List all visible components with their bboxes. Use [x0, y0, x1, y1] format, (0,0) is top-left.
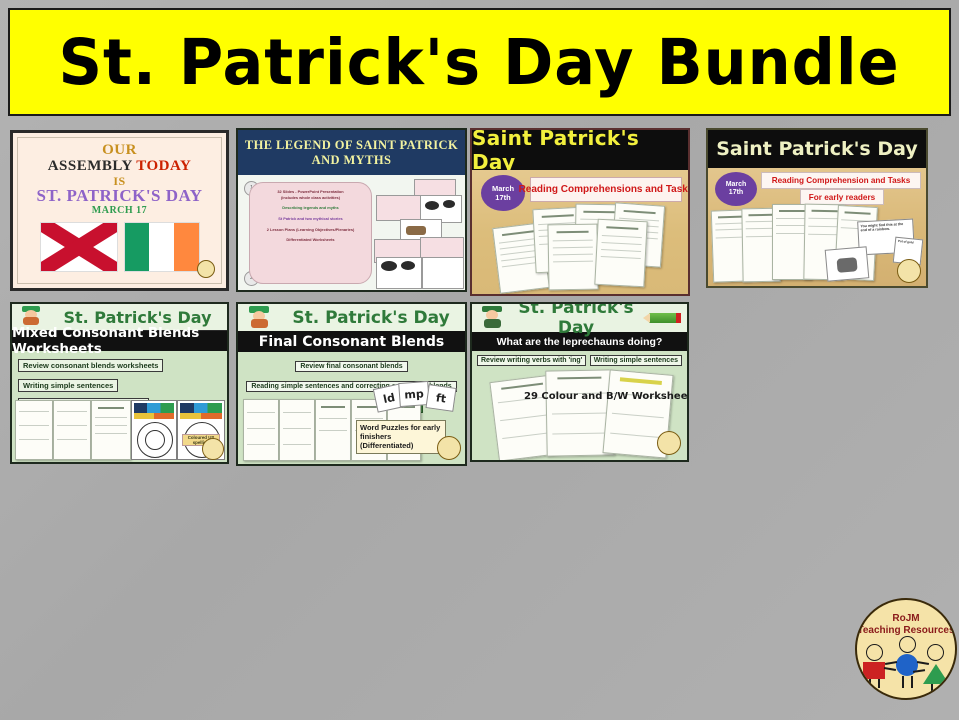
assembly-line-march: MARCH 17 [92, 206, 147, 217]
legend-bullet-box: 32 Slides - PowerPoint Presentation (inc… [249, 182, 372, 284]
worksheet-thumb [279, 399, 315, 461]
legend-thumb-7 [376, 257, 422, 289]
stick-figure-red [862, 644, 892, 688]
leprechauns-band: What are the leprechauns doing? [472, 332, 687, 351]
card-assembly-inner: OUR ASSEMBLY TODAY IS ST. PATRICK'S DAY … [17, 137, 222, 284]
card-watermark-logo [202, 438, 224, 460]
final-blends-title-bar: St. Patrick's Day [238, 304, 465, 331]
worksheet-thumb [243, 399, 279, 461]
legend-header-line1: THE LEGEND OF SAINT PATRICK [245, 138, 458, 152]
march-badge-month: March [726, 181, 747, 189]
march-badge-day: 17th [495, 193, 510, 202]
irish-tricolour-flag-icon [124, 222, 200, 272]
leprechaun-icon [241, 305, 277, 330]
card-mixed-consonant-blends[interactable]: St. Patrick's Day Mixed Consonant Blends… [10, 302, 229, 464]
leprechauns-tag-2: Writing simple sentences [590, 355, 682, 366]
leprechauns-title: St. Patrick's Day [509, 302, 643, 338]
comprehensions-title-bar: Saint Patrick's Day [472, 130, 688, 170]
mixed-blends-band-text: Mixed Consonant Blends Worksheets [12, 325, 227, 357]
assembly-line-our: OUR [102, 143, 137, 159]
leprechauns-tag-row: Review writing verbs with 'ing' Writing … [472, 351, 687, 366]
legend-thumb-8 [422, 257, 464, 289]
mixed-blends-tag-2: Writing simple sentences [18, 379, 118, 392]
puzzle-piece-pot [825, 246, 870, 282]
legend-bullet-4: St Patrick and two mythical stories [254, 216, 367, 222]
logo-line-1: RoJM [857, 613, 955, 624]
final-blends-title: St. Patrick's Day [277, 308, 465, 328]
title-banner: St. Patrick's Day Bundle [8, 8, 951, 116]
final-blends-tag-1: Review final consonant blends [295, 361, 407, 372]
worksheet-thumb [547, 224, 598, 291]
colour-by-code-thumb [131, 400, 177, 460]
legend-header: THE LEGEND OF SAINT PATRICK AND MYTHS [238, 130, 465, 175]
legend-thumb-6 [420, 237, 464, 259]
rojm-logo[interactable]: RoJM Teaching Resources [855, 598, 957, 700]
worksheet-count-row: 29 Colour and B/W Worksheets [524, 390, 654, 402]
word-puzzle-note: Word Puzzles for early finishers (Differ… [356, 420, 446, 454]
leprechauns-worksheet-fan [490, 366, 680, 456]
page-title: St. Patrick's Day Bundle [59, 26, 900, 99]
early-readers-ribbon-2-text: For early readers [809, 193, 875, 202]
card-early-readers[interactable]: Saint Patrick's Day March 17th Reading C… [706, 128, 928, 288]
worksheet-thumb [91, 400, 131, 460]
final-blends-tag-1-row: Review final consonant blends [238, 352, 465, 373]
march-badge-day: 17th [729, 189, 743, 197]
puzzle-piece-small-caption: Pot of gold [896, 238, 923, 248]
card-assembly-watermark-logo [197, 260, 215, 278]
legend-thumbnail-collage [374, 179, 462, 289]
card-leprechauns-doing[interactable]: St. Patrick's Day What are the leprechau… [470, 302, 689, 462]
legend-bullet-6: Differentiated Worksheets [254, 237, 367, 243]
stick-figure-blue [893, 636, 923, 688]
early-readers-board: March 17th Reading Comprehension and Tas… [708, 168, 926, 286]
leprechauns-band-text: What are the leprechauns doing? [497, 336, 663, 348]
legend-bullet-2: (includes whole class activities) [254, 195, 367, 201]
assembly-line-stpatricksday: ST. PATRICK'S DAY [36, 187, 202, 205]
card-watermark-logo [657, 431, 681, 455]
mixed-blends-tag-1: Review consonant blends worksheets [18, 359, 163, 372]
comprehensions-ribbon: Reading Comprehensions and Tasks [530, 177, 682, 202]
saltire-flag-icon [40, 222, 118, 272]
worksheet-thumb [594, 219, 647, 288]
blend-card-ft: ft [425, 384, 456, 412]
puzzle-piece-caption: You might find this at the end of a rain… [858, 220, 913, 236]
pot-of-gold-icon [837, 257, 858, 273]
assembly-word-assembly: ASSEMBLY [48, 158, 137, 174]
final-blends-band-text: Final Consonant Blends [259, 334, 445, 350]
march-badge: March 17th [715, 172, 757, 206]
logo-line-2: Teaching Resources [857, 625, 955, 636]
leprechaun-icon [475, 305, 509, 331]
march-badge-month: March [492, 184, 514, 193]
worksheet-count-label: 29 Colour and B/W Worksheets [524, 391, 689, 402]
card-assembly[interactable]: OUR ASSEMBLY TODAY IS ST. PATRICK'S DAY … [10, 130, 229, 291]
legend-bullet-5: 2 Lesson Plans (Learning Objectives/Plen… [254, 227, 367, 233]
card-watermark-logo [897, 259, 921, 283]
legend-bullet-3: Describing legends and myths [254, 205, 367, 211]
legend-body: 1 2 32 Slides - PowerPoint Presentation … [238, 175, 465, 292]
worksheet-thumb [53, 400, 91, 460]
card-reading-comprehensions[interactable]: Saint Patrick's Day March 17th Reading C… [470, 128, 690, 296]
worksheet-thumb [15, 400, 53, 460]
assembly-flags [40, 222, 200, 272]
blend-card-group: ld mp ft [375, 380, 461, 410]
comprehensions-title: Saint Patrick's Day [472, 128, 688, 174]
assembly-word-today: TODAY [136, 158, 191, 174]
leprechauns-title-bar: St. Patrick's Day [472, 304, 687, 332]
early-readers-title-bar: Saint Patrick's Day [708, 130, 926, 168]
comprehensions-board: March 17th Reading Comprehensions and Ta… [472, 170, 688, 294]
leprechauns-tag-1: Review writing verbs with 'ing' [477, 355, 586, 366]
worksheet-thumb [315, 399, 351, 461]
assembly-line-today: ASSEMBLY TODAY [48, 159, 192, 175]
early-readers-title: Saint Patrick's Day [716, 138, 917, 160]
stick-figure-green [923, 644, 953, 690]
mixed-blends-worksheet-strip: Coloured US spelling [15, 400, 224, 460]
pencil-icon [643, 312, 683, 324]
mixed-blends-title: St. Patrick's Day [48, 308, 227, 327]
slide-background: St. Patrick's Day Bundle OUR ASSEMBLY TO… [0, 0, 959, 720]
early-readers-ribbon-2: For early readers [800, 189, 884, 205]
leprechaun-icon [14, 305, 48, 329]
early-readers-ribbon-1: Reading Comprehension and Tasks [761, 172, 921, 189]
final-blends-band: Final Consonant Blends [238, 331, 465, 352]
legend-header-line2: AND MYTHS [312, 153, 392, 167]
early-readers-ribbon-1-text: Reading Comprehension and Tasks [772, 176, 911, 185]
mixed-blends-band: Mixed Consonant Blends Worksheets [12, 331, 227, 351]
card-final-consonant-blends[interactable]: St. Patrick's Day Final Consonant Blends… [236, 302, 467, 466]
card-legend-of-saint-patrick[interactable]: THE LEGEND OF SAINT PATRICK AND MYTHS 1 … [236, 128, 467, 292]
card-watermark-logo [437, 436, 461, 460]
legend-thumb-2 [376, 195, 424, 221]
comprehensions-ribbon-text: Reading Comprehensions and Tasks [519, 184, 690, 195]
